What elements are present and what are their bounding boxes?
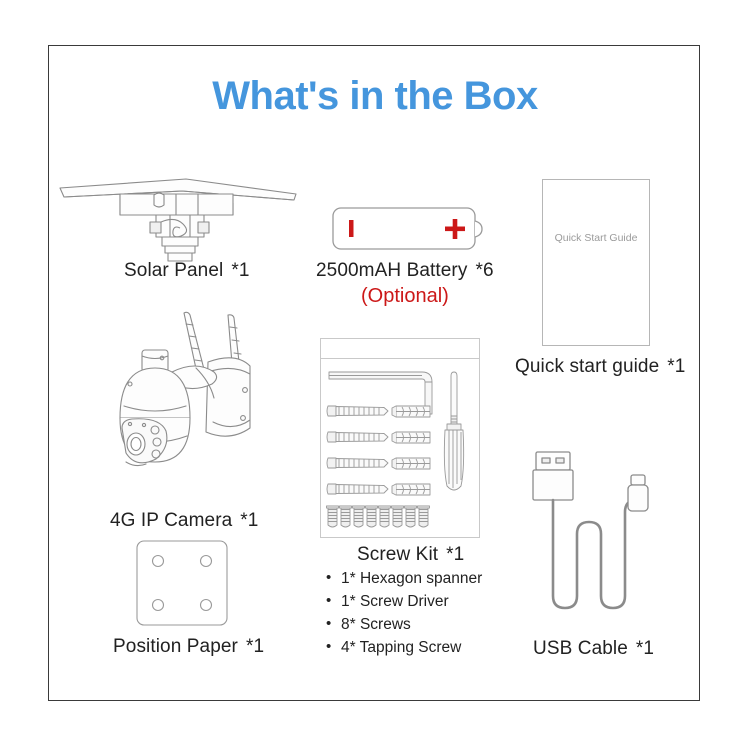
list-item: 4* Tapping Screw (326, 636, 482, 659)
usb-cable-label: USB Cable (533, 638, 628, 659)
quick-start-guide-count: *1 (667, 356, 685, 377)
solar-panel-count: *1 (231, 260, 249, 281)
ptz-camera-icon (100, 310, 290, 508)
solar-panel-icon (58, 170, 298, 262)
list-item: 8* Screws (326, 613, 482, 636)
screw-kit-count: *1 (446, 544, 464, 565)
camera-label: 4G IP Camera (110, 510, 232, 531)
minus-terminal-icon (349, 220, 354, 237)
battery-icon (332, 207, 484, 251)
position-paper-label: Position Paper (113, 636, 238, 657)
screw-kit-label: Screw Kit (357, 544, 438, 565)
usb-cable-icon (528, 450, 668, 622)
screw-kit-contents-art (326, 364, 476, 534)
screw-kit-divider (320, 358, 480, 359)
quick-start-guide-caption: Quick start guide*1 (515, 356, 685, 378)
position-paper-caption: Position Paper*1 (113, 636, 264, 658)
booklet-icon (542, 179, 650, 346)
page-title: What's in the Box (0, 74, 750, 119)
usb-cable-count: *1 (636, 638, 654, 659)
booklet-cover-text: Quick Start Guide (542, 232, 650, 244)
solar-panel-caption: Solar Panel*1 (124, 260, 250, 282)
camera-count: *1 (240, 510, 258, 531)
solar-panel-label: Solar Panel (124, 260, 223, 281)
usb-cable-caption: USB Cable*1 (533, 638, 654, 660)
camera-caption: 4G IP Camera*1 (110, 510, 258, 532)
position-paper-icon (136, 540, 228, 626)
battery-optional-note: (Optional) (361, 285, 449, 308)
screw-kit-contents-list: 1* Hexagon spanner 1* Screw Driver 8* Sc… (326, 567, 482, 659)
list-item: 1* Hexagon spanner (326, 567, 482, 590)
quick-start-guide-label: Quick start guide (515, 356, 659, 377)
position-paper-count: *1 (246, 636, 264, 657)
battery-count: *6 (475, 260, 493, 281)
whats-in-the-box-poster: What's in the Box Solar Panel*1 (0, 0, 750, 750)
screw-kit-caption: Screw Kit*1 (357, 544, 464, 566)
battery-label: 2500mAH Battery (316, 260, 467, 281)
battery-caption: 2500mAH Battery*6 (316, 260, 494, 282)
list-item: 1* Screw Driver (326, 590, 482, 613)
